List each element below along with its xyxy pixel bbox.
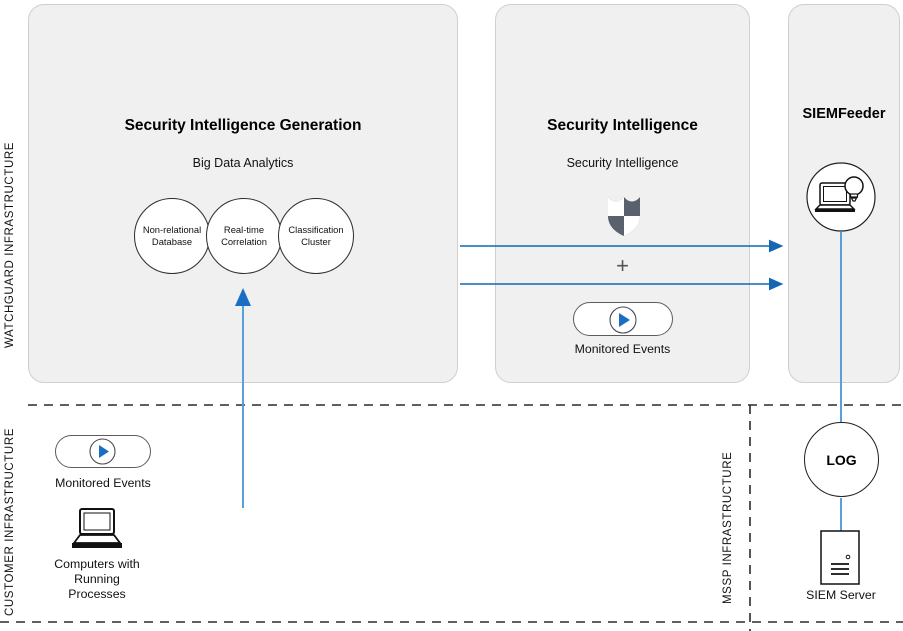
play-events-icon	[89, 438, 116, 465]
computers-running-processes-label: Computers with Running Processes	[22, 557, 172, 602]
caption-line2: Running	[22, 572, 172, 587]
laptop-icon[interactable]	[68, 507, 126, 551]
siem-server-label: SIEM Server	[772, 588, 903, 603]
log-circle-icon[interactable]: LOG	[804, 422, 879, 497]
caption-line1: Computers with	[22, 557, 172, 572]
monitored-events-label-customer: Monitored Events	[28, 476, 178, 491]
server-icon[interactable]	[820, 530, 862, 586]
diagram-canvas: WATCHGUARD INFRASTRUCTURE CUSTOMER INFRA…	[0, 0, 903, 631]
caption-line3: Processes	[22, 587, 172, 602]
data-flow-arrows	[0, 0, 903, 631]
